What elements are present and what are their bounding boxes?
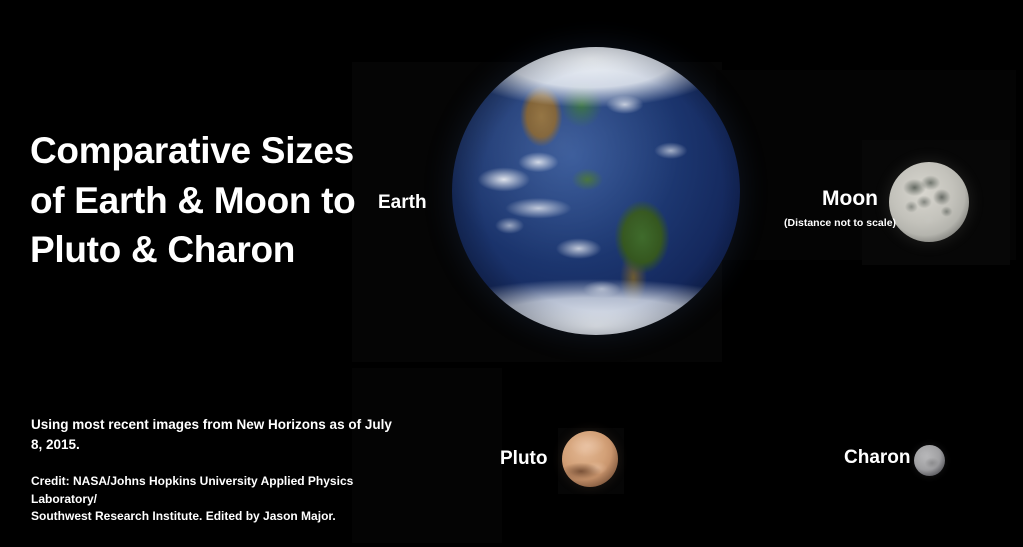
background-panel-moon-outer — [716, 70, 1016, 260]
moon-image — [889, 162, 969, 242]
label-earth: Earth — [378, 192, 427, 214]
pluto-image — [562, 431, 618, 487]
earth-globe-image — [452, 47, 740, 335]
credit-source-line: Credit: NASA/Johns Hopkins University Ap… — [31, 473, 401, 525]
credits-block: Using most recent images from New Horizo… — [31, 415, 401, 547]
label-moon: Moon — [822, 187, 878, 211]
label-charon: Charon — [844, 447, 911, 469]
label-pluto: Pluto — [500, 448, 548, 470]
charon-image — [914, 445, 945, 476]
page-title: Comparative Sizes of Earth & Moon to Plu… — [30, 126, 360, 275]
moon-distance-note: (Distance not to scale) — [784, 217, 896, 229]
comparative-sizes-infographic: Comparative Sizes of Earth & Moon to Plu… — [0, 0, 1023, 547]
credit-date-line: Using most recent images from New Horizo… — [31, 415, 401, 454]
